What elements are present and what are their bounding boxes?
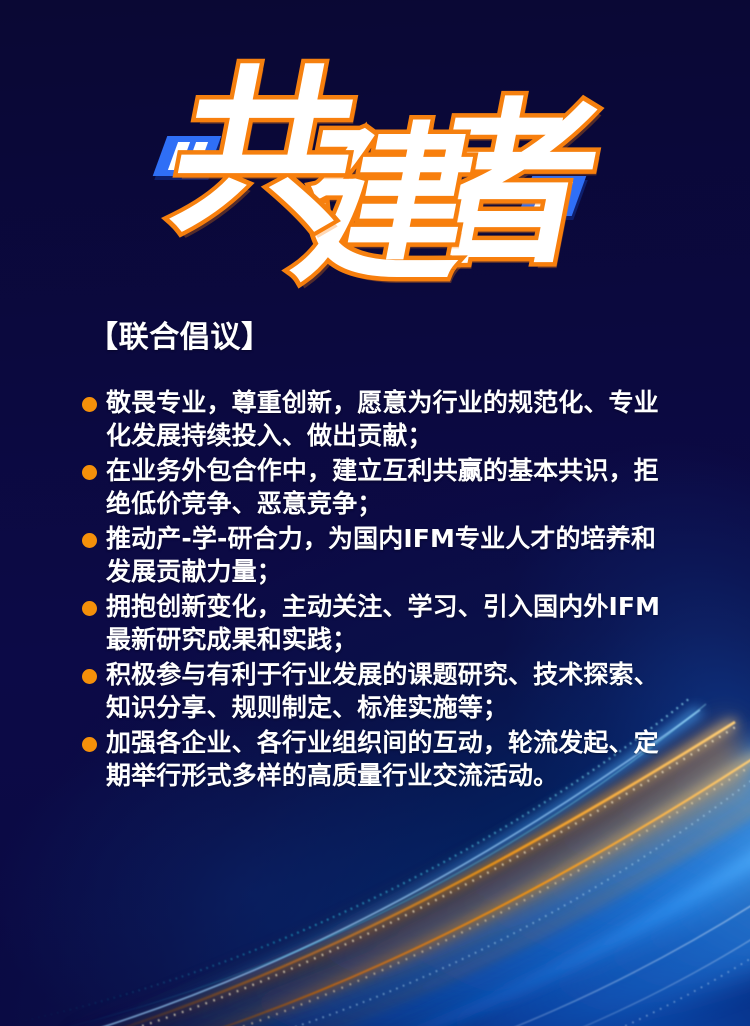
bullet-icon <box>82 737 97 752</box>
bullet-icon <box>82 669 97 684</box>
pledge-text: 拥抱创新变化，主动关注、学习、引入国内外IFM最新研究成果和实践； <box>106 590 680 656</box>
content-panel: 【联合倡议】 敬畏专业，尊重创新，愿意为行业的规范化、专业化发展持续投入、做出贡… <box>0 312 750 794</box>
headline-block: 共 建 者 <box>0 58 750 298</box>
list-item: 在业务外包合作中，建立互利共赢的基本共识，拒绝低价竞争、恶意竞争； <box>80 454 680 520</box>
list-item: 积极参与有利于行业发展的课题研究、技术探索、知识分享、规则制定、标准实施等； <box>80 658 680 724</box>
pledge-list: 敬畏专业，尊重创新，愿意为行业的规范化、专业化发展持续投入、做出贡献； 在业务外… <box>80 386 680 792</box>
pledge-text: 在业务外包合作中，建立互利共赢的基本共识，拒绝低价竞争、恶意竞争； <box>106 454 680 520</box>
poster-root: 共 建 者 【联合倡议】 敬畏专业，尊重创新，愿意为行业的规范化、专业化发展持续… <box>0 0 750 1026</box>
bullet-icon <box>82 533 97 548</box>
list-item: 推动产-学-研合力，为国内IFM专业人才的培养和发展贡献力量； <box>80 522 680 588</box>
list-item: 敬畏专业，尊重创新，愿意为行业的规范化、专业化发展持续投入、做出贡献； <box>80 386 680 452</box>
pledge-text: 敬畏专业，尊重创新，愿意为行业的规范化、专业化发展持续投入、做出贡献； <box>106 386 680 452</box>
bullet-icon <box>82 601 97 616</box>
pledge-text: 推动产-学-研合力，为国内IFM专业人才的培养和发展贡献力量； <box>106 522 680 588</box>
bullet-icon <box>82 465 97 480</box>
bullet-icon <box>82 397 97 412</box>
pledge-text: 加强各企业、各行业组织间的互动，轮流发起、定期举行形式多样的高质量行业交流活动。 <box>106 726 680 792</box>
list-item: 加强各企业、各行业组织间的互动，轮流发起、定期举行形式多样的高质量行业交流活动。 <box>80 726 680 792</box>
list-item: 拥抱创新变化，主动关注、学习、引入国内外IFM最新研究成果和实践； <box>80 590 680 656</box>
section-title: 【联合倡议】 <box>88 312 750 356</box>
headline-char-1: 共 <box>159 64 368 242</box>
pledge-text: 积极参与有利于行业发展的课题研究、技术探索、知识分享、规则制定、标准实施等； <box>106 658 680 724</box>
